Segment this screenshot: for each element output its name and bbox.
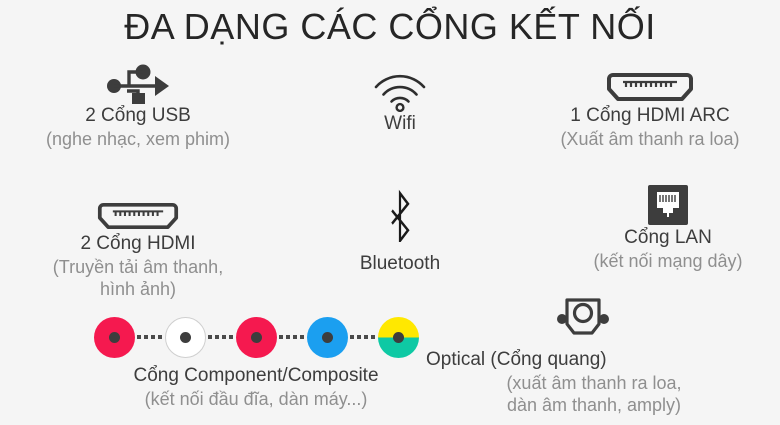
port-label-usb: 2 Cổng USB: [8, 104, 268, 128]
port-label-optical: Optical (Cổng quang): [418, 348, 748, 372]
port-sub-optical-line2: dàn âm thanh, amply): [418, 394, 748, 417]
plug-white: [165, 317, 206, 358]
cable-dots: [206, 335, 236, 339]
port-label-bluetooth: Bluetooth: [310, 252, 490, 276]
bluetooth-icon: [310, 180, 490, 242]
cable-dots: [348, 335, 378, 339]
cable-dots: [277, 335, 307, 339]
wifi-icon: [320, 68, 480, 112]
port-block-wifi: Wifi: [320, 68, 480, 136]
page-title: ĐA DẠNG CÁC CỔNG KẾT NỐI: [0, 6, 780, 48]
plug-blue: [307, 317, 348, 358]
port-sub-component: (kết nối đầu đĩa, dàn máy...): [86, 388, 426, 411]
port-sub-usb: (nghe nhạc, xem phim): [8, 128, 268, 151]
port-sub-hdmi-arc: (Xuất âm thanh ra loa): [520, 128, 780, 151]
port-label-lan: Cổng LAN: [560, 226, 776, 250]
cable-dots: [135, 335, 165, 339]
hdmi-port-icon: [0, 188, 276, 232]
optical-port-icon: [418, 294, 748, 346]
hdmi-port-icon: [520, 60, 780, 104]
port-label-wifi: Wifi: [320, 112, 480, 136]
port-block-usb: 2 Cổng USB (nghe nhạc, xem phim): [8, 60, 268, 150]
usb-icon: [8, 60, 268, 104]
plug-yellow-green: [378, 317, 419, 358]
port-block-hdmi: 2 Cổng HDMI (Truyền tải âm thanh, hình ả…: [0, 188, 276, 301]
port-sub-lan: (kết nối mạng dây): [560, 250, 776, 273]
port-label-hdmi-arc: 1 Cổng HDMI ARC: [520, 104, 780, 128]
connectivity-infographic: ĐA DẠNG CÁC CỔNG KẾT NỐI 2 Cổng USB (ngh…: [0, 0, 780, 425]
port-block-lan: Cổng LAN (kết nối mạng dây): [560, 182, 776, 272]
port-block-optical: Optical (Cổng quang) (xuất âm thanh ra l…: [418, 294, 748, 417]
port-sub-optical-line1: (xuất âm thanh ra loa,: [418, 372, 748, 395]
port-label-hdmi: 2 Cổng HDMI: [0, 232, 276, 256]
rca-plugs-icon: [86, 314, 426, 360]
plug-red-2: [236, 317, 277, 358]
port-block-bluetooth: Bluetooth: [310, 180, 490, 276]
port-sub-hdmi-line2: hình ảnh): [0, 278, 276, 301]
lan-rj45-icon: [560, 182, 776, 226]
port-sub-hdmi-line1: (Truyền tải âm thanh,: [0, 256, 276, 279]
port-block-component: Cổng Component/Composite (kết nối đầu đĩ…: [86, 314, 426, 410]
port-label-component: Cổng Component/Composite: [86, 364, 426, 388]
port-block-hdmi-arc: 1 Cổng HDMI ARC (Xuất âm thanh ra loa): [520, 60, 780, 150]
plug-red-1: [94, 317, 135, 358]
